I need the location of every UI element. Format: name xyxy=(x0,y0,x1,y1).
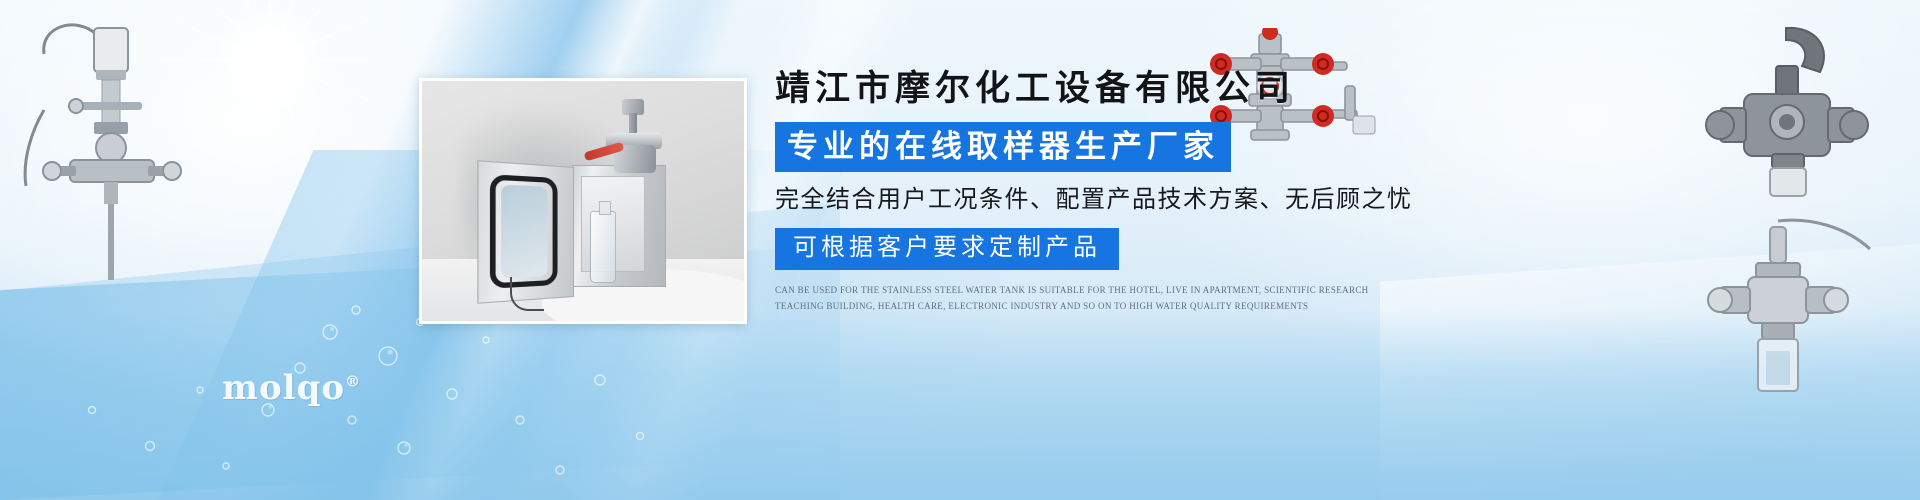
english-description: CAN BE USED FOR THE STAINLESS STEEL WATE… xyxy=(775,283,1375,315)
headline-badge: 专业的在线取样器生产厂家 xyxy=(775,122,1231,172)
banner-text-block: 靖江市摩尔化工设备有限公司 专业的在线取样器生产厂家 完全结合用户工况条件、配置… xyxy=(775,70,1415,315)
watermark-registered-mark: ® xyxy=(345,373,361,391)
promotional-banner: 靖江市摩尔化工设备有限公司 专业的在线取样器生产厂家 完全结合用户工况条件、配置… xyxy=(0,0,1920,500)
background-ribbon-6 xyxy=(1380,238,1920,500)
company-title: 靖江市摩尔化工设备有限公司 xyxy=(775,70,1415,109)
sampler-probe-assembly-icon xyxy=(10,10,190,290)
sampling-valve-icon xyxy=(1700,215,1880,400)
subline-text: 完全结合用户工况条件、配置产品技术方案、无后顾之忧 xyxy=(775,186,1415,215)
watermark-logo: molqo® xyxy=(222,368,361,408)
watermark-text: molqo xyxy=(222,368,345,408)
customization-badge: 可根据客户要求定制产品 xyxy=(775,228,1119,270)
sunburst-icon xyxy=(150,0,390,180)
product-photo xyxy=(419,78,747,324)
gray-gate-valve-icon xyxy=(1690,22,1880,202)
